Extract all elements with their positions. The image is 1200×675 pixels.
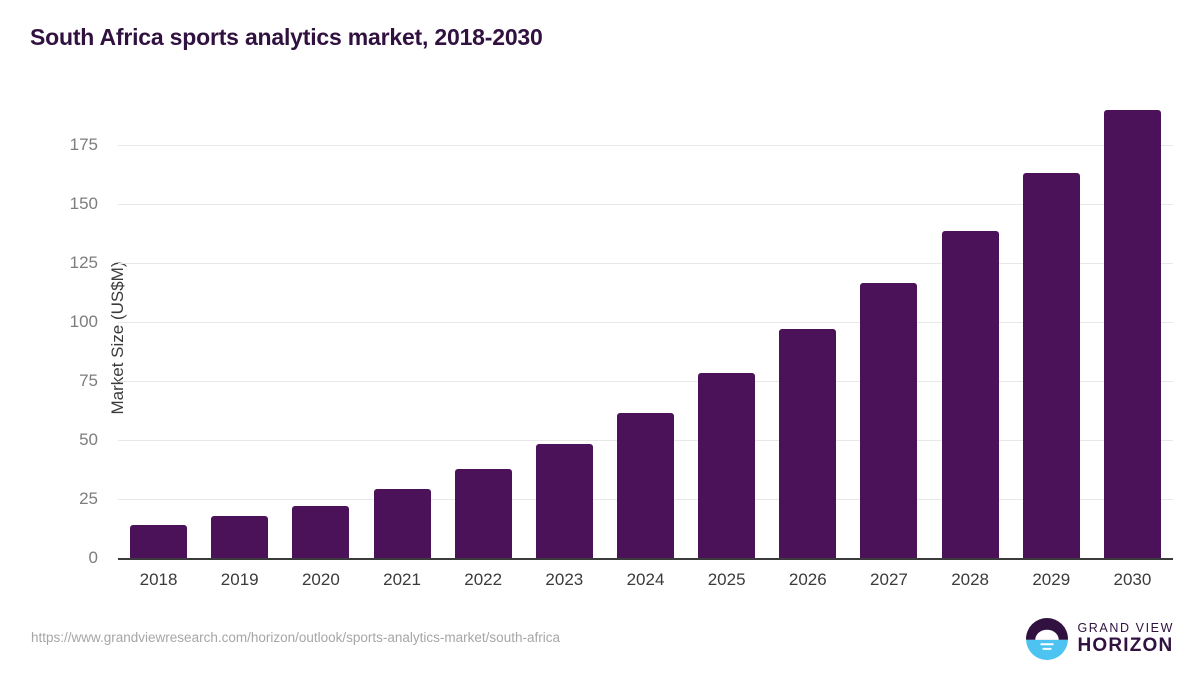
source-url[interactable]: https://www.grandviewresearch.com/horizo… <box>31 630 560 645</box>
brand-logo-text: GRAND VIEW HORIZON <box>1077 622 1174 655</box>
brand-logo-line1: GRAND VIEW <box>1077 622 1174 635</box>
x-axis-line <box>118 558 1173 560</box>
brand-logo: GRAND VIEW HORIZON <box>1026 618 1174 660</box>
y-tick-label: 125 <box>70 253 98 273</box>
x-tick-label: 2018 <box>140 570 178 590</box>
x-tick-label: 2024 <box>627 570 665 590</box>
bar[interactable] <box>779 329 836 558</box>
brand-logo-line2: HORIZON <box>1077 636 1174 656</box>
bar[interactable] <box>1104 110 1161 558</box>
bar[interactable] <box>860 283 917 558</box>
y-tick-label: 50 <box>79 430 98 450</box>
y-axis-tick-labels: 0255075100125150175 <box>0 0 110 675</box>
y-tick-label: 150 <box>70 194 98 214</box>
x-tick-label: 2027 <box>870 570 908 590</box>
horizon-circle-icon <box>1026 618 1068 660</box>
y-tick-label: 25 <box>79 489 98 509</box>
bar[interactable] <box>455 469 512 558</box>
bar[interactable] <box>1023 173 1080 558</box>
x-tick-label: 2029 <box>1032 570 1070 590</box>
y-tick-label: 75 <box>79 371 98 391</box>
y-tick-label: 100 <box>70 312 98 332</box>
bar[interactable] <box>698 373 755 558</box>
x-tick-label: 2030 <box>1114 570 1152 590</box>
x-axis-tick-labels: 2018201920202021202220232024202520262027… <box>118 570 1173 600</box>
bar[interactable] <box>536 444 593 558</box>
x-tick-label: 2021 <box>383 570 421 590</box>
x-tick-label: 2022 <box>464 570 502 590</box>
bar[interactable] <box>374 489 431 558</box>
bar-series <box>118 100 1173 558</box>
x-tick-label: 2026 <box>789 570 827 590</box>
x-tick-label: 2020 <box>302 570 340 590</box>
x-tick-label: 2019 <box>221 570 259 590</box>
chart-page: South Africa sports analytics market, 20… <box>0 0 1200 675</box>
x-tick-label: 2023 <box>545 570 583 590</box>
bar[interactable] <box>617 413 674 558</box>
bar[interactable] <box>942 231 999 558</box>
x-tick-label: 2025 <box>708 570 746 590</box>
y-tick-label: 175 <box>70 135 98 155</box>
y-tick-label: 0 <box>89 548 98 568</box>
bar[interactable] <box>130 525 187 558</box>
x-tick-label: 2028 <box>951 570 989 590</box>
bar[interactable] <box>292 506 349 558</box>
bar[interactable] <box>211 516 268 558</box>
